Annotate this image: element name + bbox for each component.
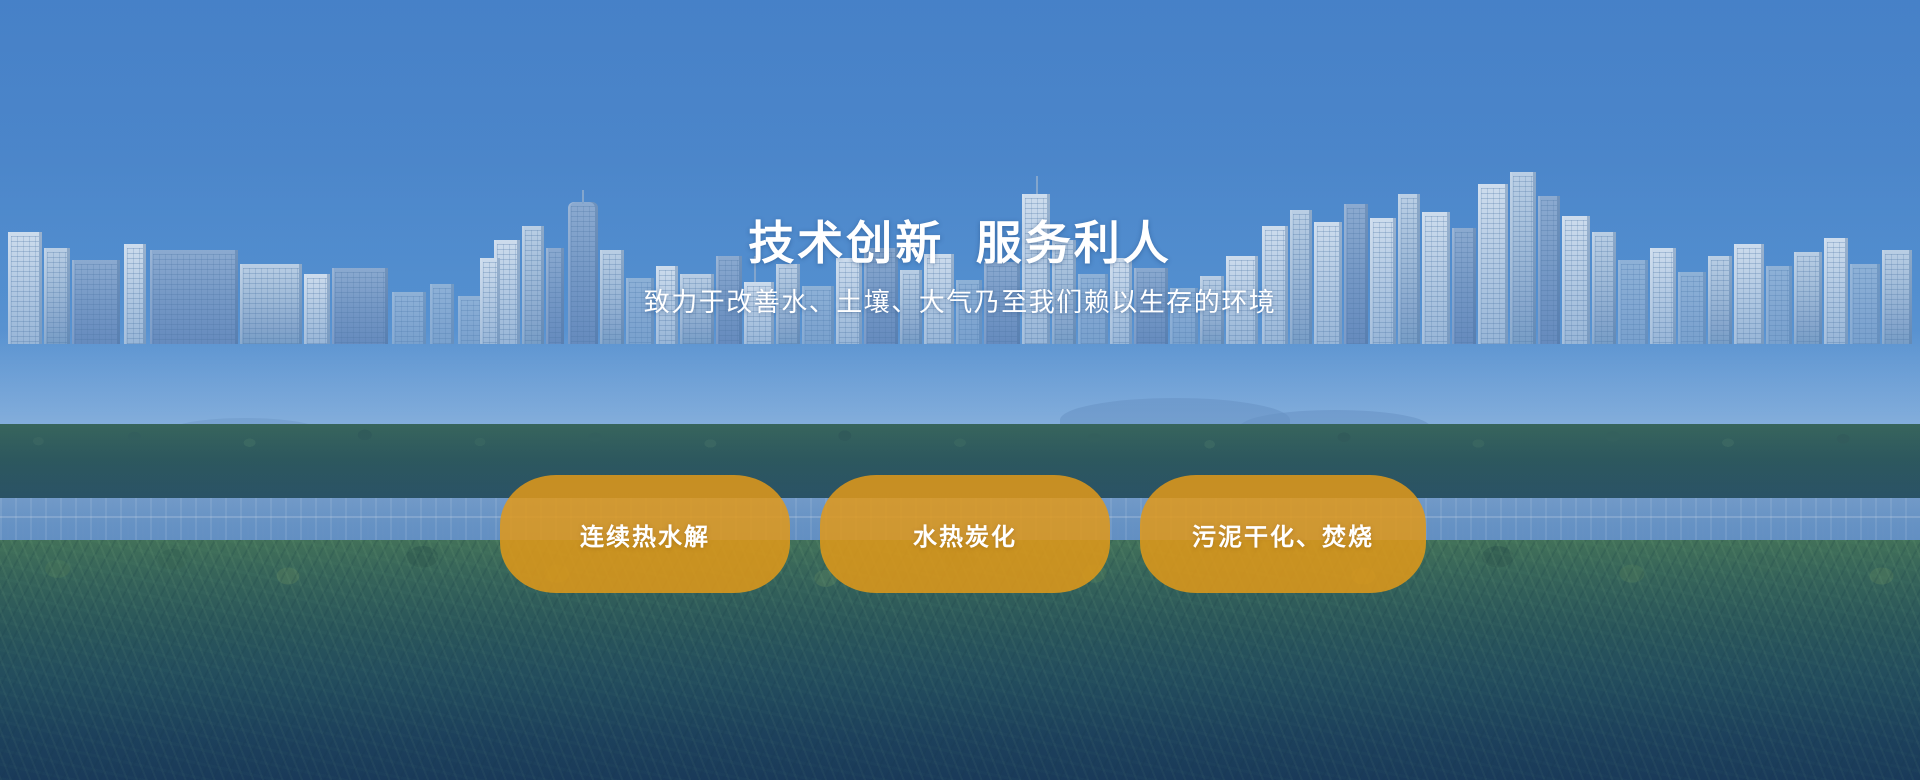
cta-hydrothermal-carbonization[interactable]: 水热炭化 [820, 475, 1110, 593]
hero-title: 技术创新 服务利人 [748, 216, 1172, 270]
cta-button-row: 连续热水解 水热炭化 污泥干化、焚烧 [500, 475, 1426, 593]
hero-copy: 技术创新 服务利人 致力于改善水、土壤、大气乃至我们赖以生存的环境 [0, 0, 1920, 780]
cta-continuous-thermal-hydrolysis[interactable]: 连续热水解 [500, 475, 790, 593]
hero-banner: 技术创新 服务利人 致力于改善水、土壤、大气乃至我们赖以生存的环境 连续热水解 … [0, 0, 1920, 780]
cta-sludge-drying-incineration[interactable]: 污泥干化、焚烧 [1140, 475, 1426, 593]
hero-subtitle: 致力于改善水、土壤、大气乃至我们赖以生存的环境 [644, 286, 1277, 320]
